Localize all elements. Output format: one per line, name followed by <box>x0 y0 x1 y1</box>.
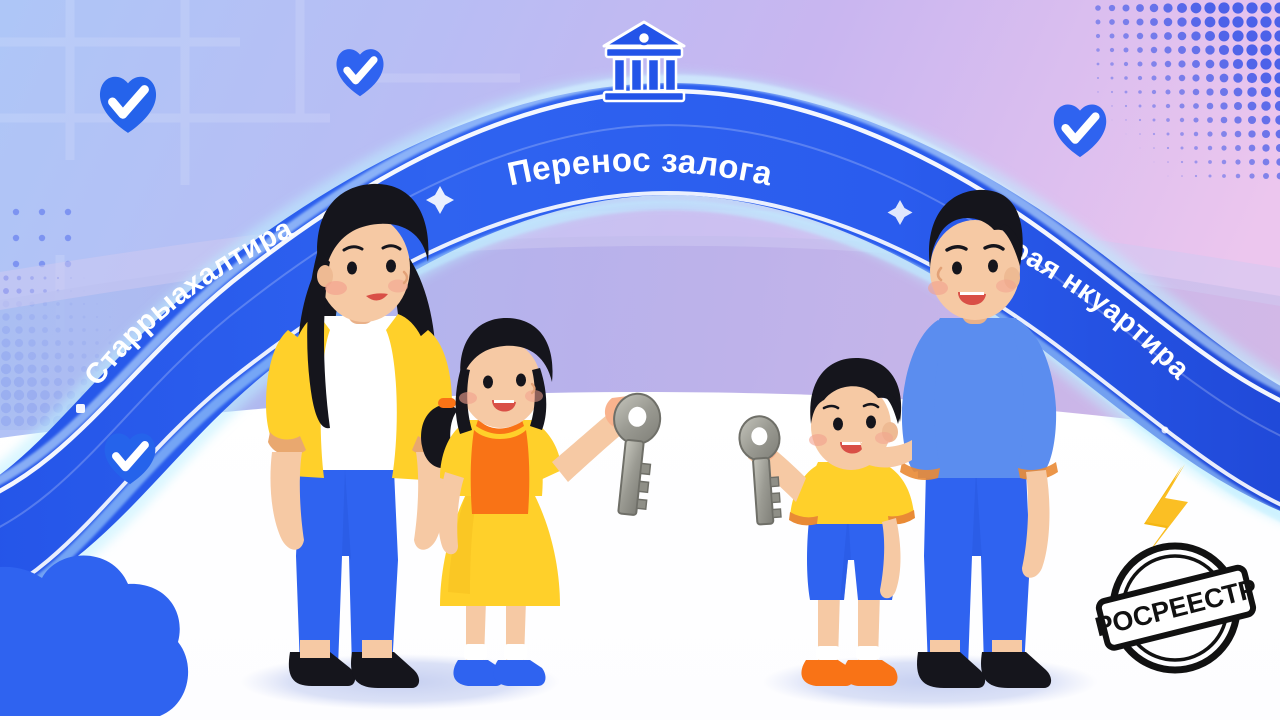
foreground-decor: РОСРЕЕСТР <box>0 0 1280 720</box>
cloud-shape <box>0 555 188 716</box>
stamp-rosreestr: РОСРЕЕСТР <box>1090 546 1262 670</box>
illustration-canvas: Перенос залога Старрыахалтира Ноая нкуар… <box>0 0 1280 720</box>
